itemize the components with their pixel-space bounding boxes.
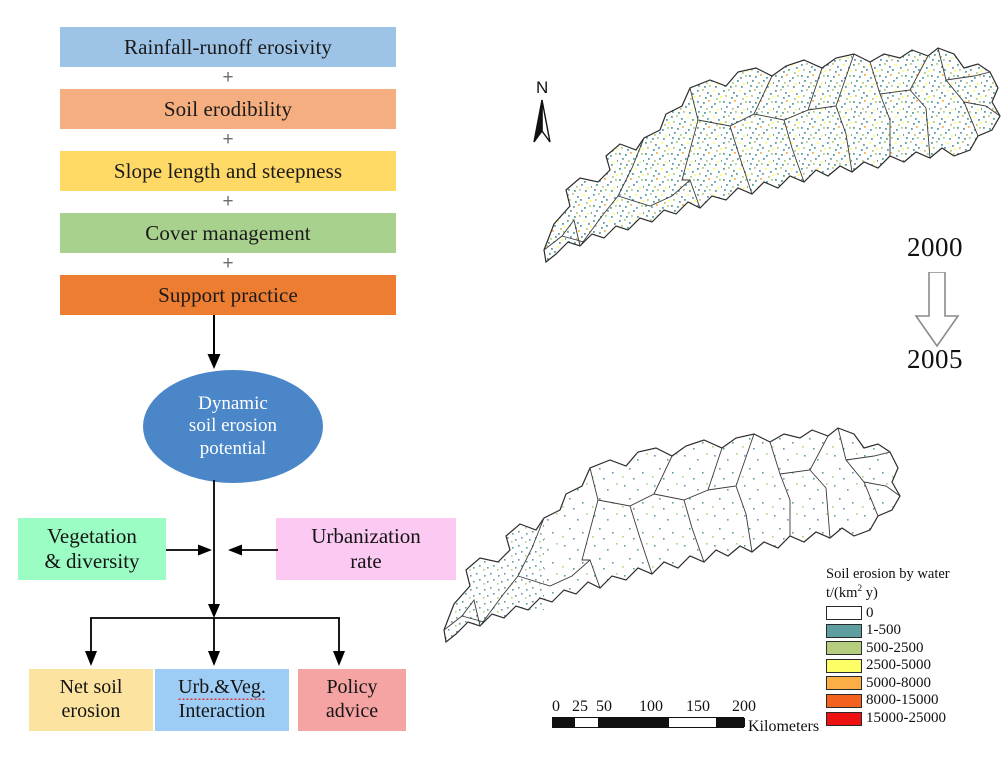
outcome-line-2: Interaction bbox=[178, 700, 266, 724]
outcome-line-1-wrap: Urb.&Veg. bbox=[178, 676, 266, 700]
factor-label: Cover management bbox=[145, 223, 310, 244]
year-label-2005: 2005 bbox=[907, 344, 963, 375]
driver-text: Urbanization rate bbox=[311, 524, 421, 574]
scalebar-unit-label: Kilometers bbox=[748, 718, 819, 736]
legend-item-3[interactable]: 2500-5000 bbox=[826, 657, 1006, 675]
legend-item-1[interactable]: 1-500 bbox=[826, 622, 1006, 640]
spellcheck-squiggle-underline bbox=[178, 697, 266, 700]
scalebar-segment bbox=[598, 718, 622, 727]
legend-label: 15000-25000 bbox=[866, 711, 946, 726]
driver-text: Vegetation & diversity bbox=[44, 524, 139, 574]
driver-line-2: & diversity bbox=[44, 549, 139, 574]
ellipse-line-2: soil erosion bbox=[189, 415, 277, 437]
plus-glyph: + bbox=[222, 67, 233, 89]
factor-box-soil-erodibility[interactable]: Soil erodibility bbox=[60, 89, 396, 129]
ellipse-text: Dynamic soil erosion potential bbox=[189, 393, 277, 460]
transition-down-arrow-icon bbox=[914, 272, 960, 348]
outcome-line-2: erosion bbox=[60, 700, 123, 724]
scalebar-tick: 25 bbox=[572, 698, 588, 716]
legend-label: 2500-5000 bbox=[866, 658, 931, 673]
factor-label: Support practice bbox=[158, 285, 298, 306]
factor-box-slope-length-and-steepness[interactable]: Slope length and steepness bbox=[60, 151, 396, 191]
legend-item-5[interactable]: 8000-15000 bbox=[826, 692, 1006, 710]
plus-operator-1: + bbox=[60, 67, 396, 89]
driver-line-1: Vegetation bbox=[44, 524, 139, 549]
plus-operator-2: + bbox=[60, 129, 396, 151]
connector-drivers-to-spine bbox=[160, 538, 284, 562]
legend-unit-prefix: t/(km bbox=[826, 585, 857, 601]
legend-item-0[interactable]: 0 bbox=[826, 604, 1006, 622]
legend-item-4[interactable]: 5000-8000 bbox=[826, 675, 1006, 693]
legend-label: 500-2500 bbox=[866, 641, 924, 656]
scalebar-segment bbox=[553, 718, 575, 727]
outcome-text: Urb.&Veg. Interaction bbox=[178, 676, 266, 723]
factor-label: Rainfall-runoff erosivity bbox=[124, 37, 332, 58]
year-label-2000: 2000 bbox=[907, 232, 963, 263]
outcome-line-1: Net soil bbox=[60, 676, 123, 700]
driver-box-vegetation-and-diversity[interactable]: Vegetation & diversity bbox=[18, 518, 166, 580]
legend-unit-suffix: y) bbox=[862, 585, 878, 601]
factor-box-cover-management[interactable]: Cover management bbox=[60, 213, 396, 253]
legend-label: 1-500 bbox=[866, 623, 901, 638]
legend-title-line-2: t/(km2 y) bbox=[826, 584, 1006, 603]
scalebar-tick: 150 bbox=[686, 698, 710, 716]
outcome-box-urb-veg-interaction[interactable]: Urb.&Veg. Interaction bbox=[155, 669, 289, 731]
outcome-line-1: Urb.&Veg. bbox=[178, 676, 266, 698]
scalebar-tick-labels: 0 25 50 100 150 200 bbox=[552, 698, 744, 717]
legend-swatch bbox=[826, 712, 862, 726]
legend-swatch bbox=[826, 624, 862, 638]
dynamic-soil-erosion-potential-ellipse[interactable]: Dynamic soil erosion potential bbox=[143, 370, 323, 483]
scalebar-tick: 0 bbox=[552, 698, 560, 716]
driver-box-urbanization-rate[interactable]: Urbanization rate bbox=[276, 518, 456, 580]
factor-box-support-practice[interactable]: Support practice bbox=[60, 275, 396, 315]
map-scalebar: 0 25 50 100 150 200 Kilometers bbox=[552, 698, 744, 728]
ellipse-line-3: potential bbox=[189, 438, 277, 460]
legend-item-2[interactable]: 500-2500 bbox=[826, 639, 1006, 657]
plus-operator-3: + bbox=[60, 191, 396, 213]
legend-swatch bbox=[826, 694, 862, 708]
legend-label: 5000-8000 bbox=[866, 676, 931, 691]
legend-swatch bbox=[826, 659, 862, 673]
flowchart-panel: Rainfall-runoff erosivity + Soil erodibi… bbox=[0, 0, 440, 768]
factor-label: Soil erodibility bbox=[164, 99, 292, 120]
factor-label: Slope length and steepness bbox=[114, 161, 342, 182]
outcome-line-2: advice bbox=[326, 700, 378, 724]
plus-glyph: + bbox=[222, 191, 233, 213]
legend-item-6[interactable]: 15000-25000 bbox=[826, 710, 1006, 728]
outcome-text: Policy advice bbox=[326, 676, 378, 723]
legend-label: 0 bbox=[866, 606, 874, 621]
legend-swatch bbox=[826, 606, 862, 620]
plus-glyph: + bbox=[222, 253, 233, 275]
outcome-box-net-soil-erosion[interactable]: Net soil erosion bbox=[29, 669, 153, 731]
factor-box-rainfall-runoff-erosivity[interactable]: Rainfall-runoff erosivity bbox=[60, 27, 396, 67]
outcome-line-1: Policy bbox=[326, 676, 378, 700]
plus-operator-4: + bbox=[60, 253, 396, 275]
plus-glyph: + bbox=[222, 129, 233, 151]
ellipse-line-1: Dynamic bbox=[189, 393, 277, 415]
legend-title-line-1: Soil erosion by water bbox=[826, 566, 1006, 584]
legend-swatch bbox=[826, 676, 862, 690]
scalebar-segment bbox=[622, 718, 669, 727]
outcome-box-policy-advice[interactable]: Policy advice bbox=[298, 669, 406, 731]
scalebar-tick: 50 bbox=[596, 698, 612, 716]
figure-root: Rainfall-runoff erosivity + Soil erodibi… bbox=[0, 0, 1008, 768]
legend-swatch bbox=[826, 641, 862, 655]
map-legend: Soil erosion by water t/(km2 y) 0 1-500 … bbox=[826, 566, 1006, 727]
driver-line-1: Urbanization bbox=[311, 524, 421, 549]
scalebar-bar bbox=[552, 717, 744, 728]
scalebar-tick: 100 bbox=[639, 698, 663, 716]
legend-label: 8000-15000 bbox=[866, 693, 939, 708]
driver-line-2: rate bbox=[311, 549, 421, 574]
connector-factors-to-ellipse bbox=[200, 315, 228, 370]
outcome-text: Net soil erosion bbox=[60, 676, 123, 723]
scalebar-tick: 200 bbox=[732, 698, 756, 716]
scalebar-segment bbox=[716, 718, 745, 727]
